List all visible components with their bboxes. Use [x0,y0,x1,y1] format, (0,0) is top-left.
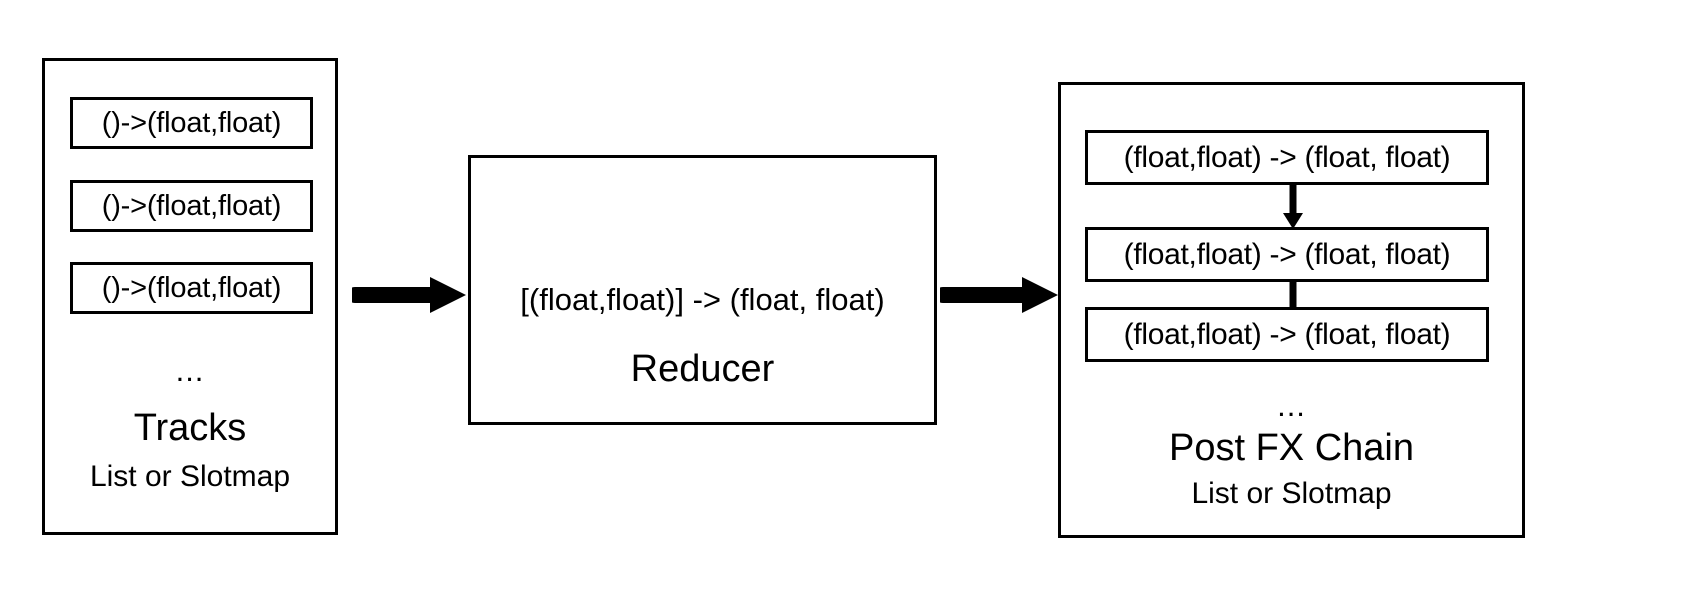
arrow-down-icon [1279,183,1307,229]
postfx-panel: (float,float) -> (float, float) (float,f… [1058,82,1525,538]
tracks-subtitle: List or Slotmap [45,462,335,492]
postfx-ellipsis: ... [1061,390,1522,421]
arrow-right-icon [940,272,1060,318]
reducer-title: Reducer [471,350,934,388]
postfx-item-3-signature: (float,float) -> (float, float) [1124,320,1451,350]
postfx-item-1-signature: (float,float) -> (float, float) [1124,143,1451,173]
tracks-title: Tracks [45,409,335,447]
arrow-fx1-to-fx2 [1279,183,1307,229]
diagram-canvas: ()->(float,float) ()->(float,float) ()->… [0,0,1694,600]
track-item-1[interactable]: ()->(float,float) [70,97,313,149]
track-item-3[interactable]: ()->(float,float) [70,262,313,314]
arrow-reducer-to-postfx [940,272,1060,318]
postfx-title: Post FX Chain [1061,429,1522,467]
postfx-subtitle: List or Slotmap [1061,479,1522,509]
reducer-signature: [(float,float)] -> (float, float) [471,284,934,315]
reducer-panel: [(float,float)] -> (float, float) Reduce… [468,155,937,425]
arrow-right-icon [352,272,468,318]
postfx-item-2[interactable]: (float,float) -> (float, float) [1085,227,1489,282]
track-item-2-signature: ()->(float,float) [102,192,282,221]
arrow-tracks-to-reducer [352,272,468,318]
track-item-3-signature: ()->(float,float) [102,274,282,303]
track-item-2[interactable]: ()->(float,float) [70,180,313,232]
tracks-panel: ()->(float,float) ()->(float,float) ()->… [42,58,338,535]
postfx-item-1[interactable]: (float,float) -> (float, float) [1085,130,1489,185]
tracks-ellipsis: ... [45,355,335,386]
postfx-item-2-signature: (float,float) -> (float, float) [1124,240,1451,270]
postfx-item-3[interactable]: (float,float) -> (float, float) [1085,307,1489,362]
track-item-1-signature: ()->(float,float) [102,109,282,138]
